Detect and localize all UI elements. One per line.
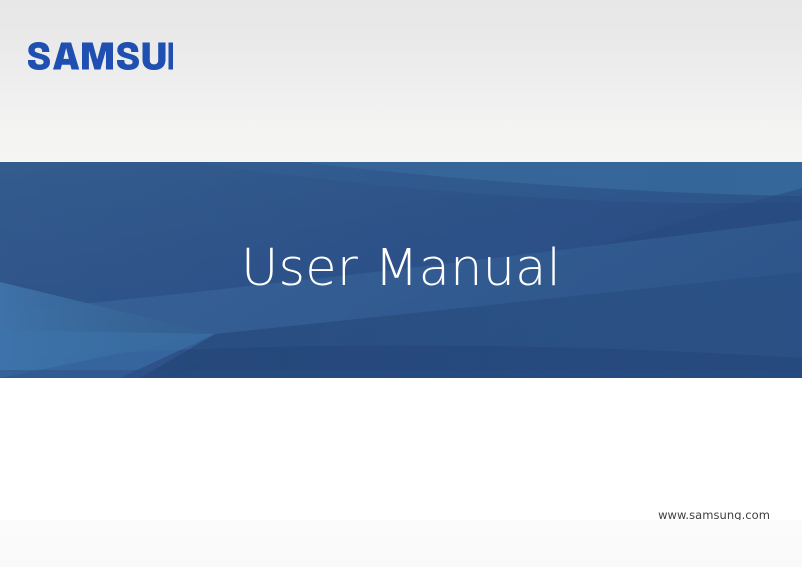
page-header [0, 0, 802, 162]
cover-banner: User Manual [0, 162, 802, 378]
page-title: User Manual [0, 162, 802, 378]
user-manual-cover-page: User Manual www.samsung.com [0, 0, 802, 567]
samsung-logo [27, 41, 173, 71]
page-body [0, 378, 802, 520]
page-footer [0, 520, 802, 567]
